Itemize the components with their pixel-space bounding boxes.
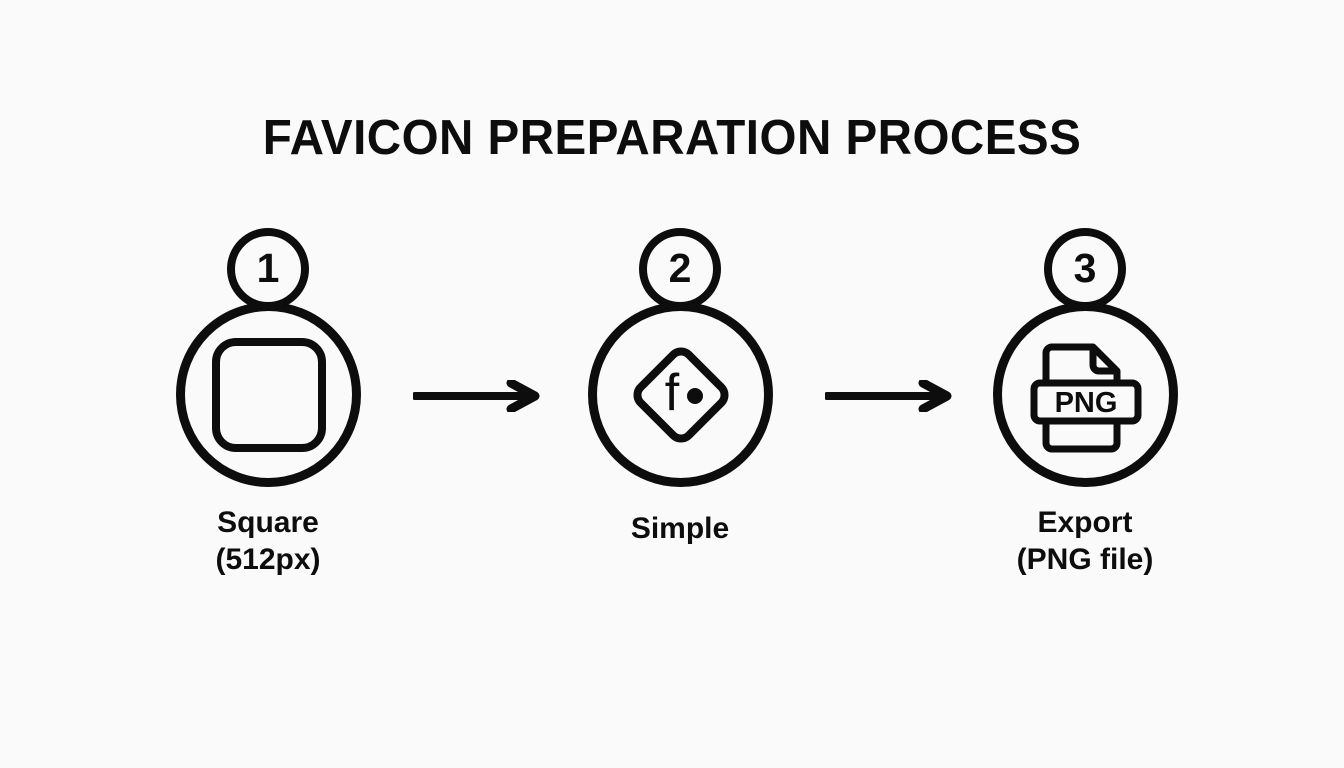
png-file-icon: PNG [1021,330,1151,460]
step-3: PNG 3 Export (PNG file) [955,228,1215,588]
step-3-number-badge: 3 [1044,228,1126,310]
step-2: f 2 Simple [550,228,810,588]
step-1: 1 Square (512px) [138,228,398,588]
diagram-canvas: FAVICON PREPARATION PROCESS 1 Square (51… [0,0,1344,768]
step-1-label: Square (512px) [138,505,398,579]
step-3-graphic: PNG 3 [955,228,1215,490]
step-2-label: Simple [550,511,810,548]
step-3-label-line1: Export [955,505,1215,542]
step-1-label-line2: (512px) [138,542,398,579]
step-2-number: 2 [669,248,692,289]
step-3-circle: PNG [993,302,1178,487]
step-1-label-line1: Square [138,505,398,542]
step-1-graphic: 1 [138,228,398,490]
arrow-step2-to-step3 [825,380,955,412]
diamond-icon-letter: f [664,364,679,422]
step-2-graphic: f 2 [550,228,810,490]
arrow-step1-to-step2 [413,380,543,412]
step-2-circle: f [588,302,773,487]
diamond-favicon-icon: f [616,330,746,460]
step-2-number-badge: 2 [639,228,721,310]
png-band-label: PNG [1054,387,1117,419]
rounded-square-icon [204,330,334,460]
step-1-circle [176,302,361,487]
step-3-label-line2: (PNG file) [955,542,1215,579]
step-1-number: 1 [257,248,280,289]
page-title: FAVICON PREPARATION PROCESS [20,112,1324,166]
step-2-label-line1: Simple [550,511,810,548]
step-3-label: Export (PNG file) [955,505,1215,579]
step-3-number: 3 [1074,248,1097,289]
step-1-number-badge: 1 [227,228,309,310]
